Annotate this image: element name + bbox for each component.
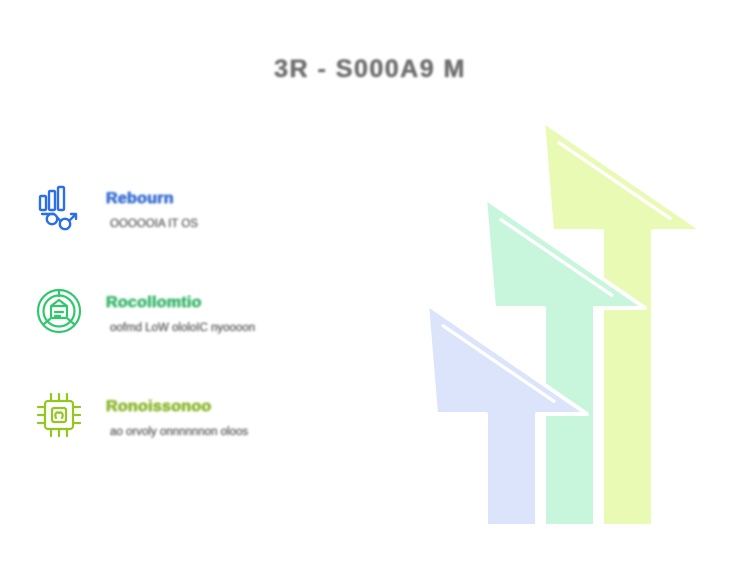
feature-item-3[interactable]: Ronoissonoo ao orvoly onnnnnnon oloos	[34, 386, 329, 462]
feature-heading-2: Rocollomtio	[106, 294, 202, 312]
page-title: 3R - S000A9 M	[0, 55, 740, 84]
feature-item-1[interactable]: Rebourn OOOOOIA IT OS	[34, 178, 329, 254]
feature-list: Rebourn OOOOOIA IT OS Rocollomtio oofmd …	[34, 178, 329, 462]
feature-heading-1: Rebourn	[106, 190, 174, 208]
feature-description-1: OOOOOIA IT OS	[110, 216, 328, 233]
slide-canvas: 3R - S000A9 M Rebourn OOOOOIA IT OS	[0, 0, 740, 578]
three-rising-arrows-graphic	[340, 118, 720, 533]
feature-description-2: oofmd LoW ololoIC nyoooon	[110, 320, 328, 337]
bar-chart-growth-icon	[34, 182, 84, 232]
feature-item-2[interactable]: Rocollomtio oofmd LoW ololoIC nyoooon	[34, 282, 329, 358]
feature-heading-3: Ronoissonoo	[106, 398, 212, 416]
feature-description-3: ao orvoly onnnnnnon oloos	[110, 424, 328, 441]
circular-badge-icon	[34, 286, 84, 336]
chip-processor-icon	[34, 390, 84, 440]
